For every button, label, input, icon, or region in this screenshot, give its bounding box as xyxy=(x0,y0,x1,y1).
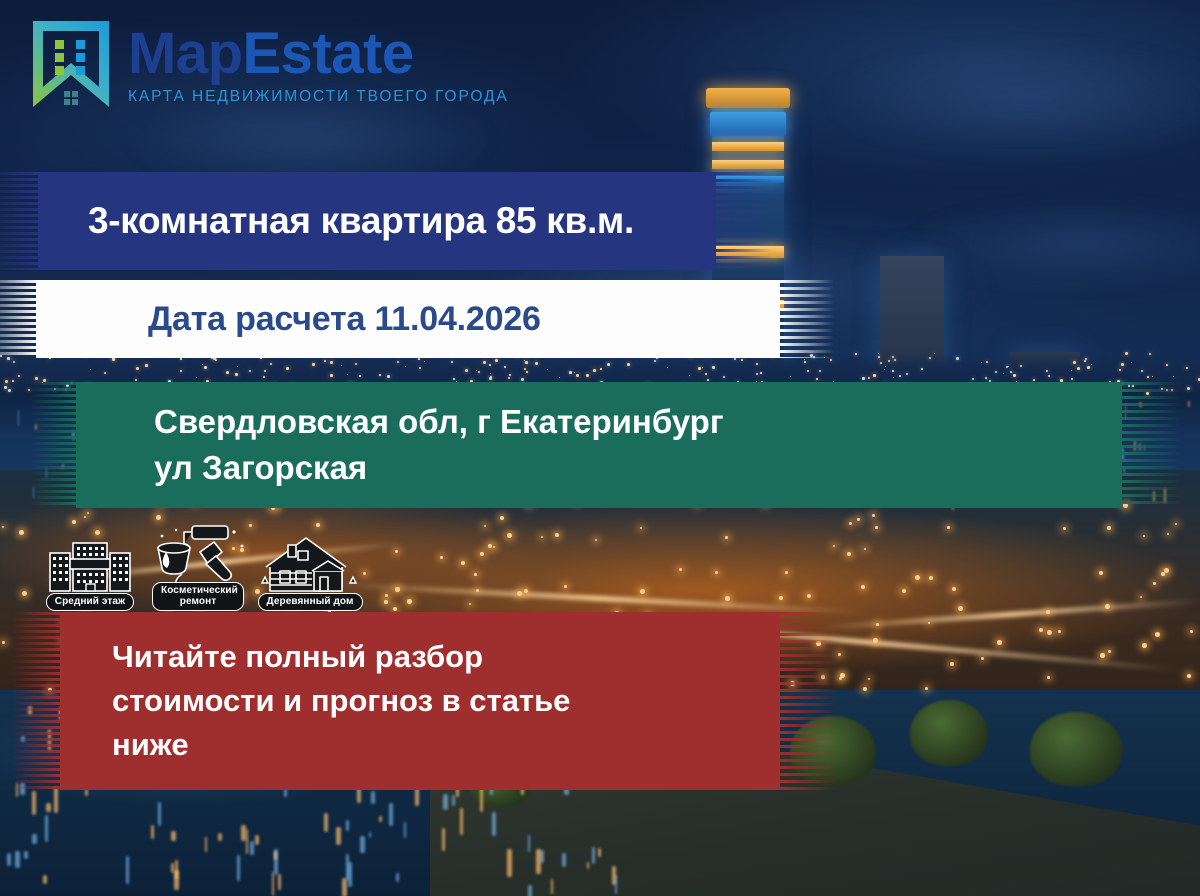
page-title: 3-комнатная квартира 85 кв.м. xyxy=(38,200,634,242)
brand-logo[interactable]: MapEstate КАРТА НЕДВИЖИМОСТИ ТВОЕГО ГОРО… xyxy=(28,18,509,110)
cta-line-1: Читайте полный разбор xyxy=(60,635,483,679)
address-band: Свердловская обл, г Екатеринбург ул Заго… xyxy=(76,382,1122,508)
address-line-street: ул Загорская xyxy=(76,445,367,491)
poster-root: MapEstate КАРТА НЕДВИЖИМОСТИ ТВОЕГО ГОРО… xyxy=(0,0,1200,896)
call-to-action-band: Читайте полный разбор стоимости и прогно… xyxy=(60,612,780,790)
brand-name: MapEstate xyxy=(128,26,509,82)
calculation-date-text: Дата расчета 11.04.2026 xyxy=(36,300,541,339)
apartment-building-icon xyxy=(40,537,140,599)
badge-middle-floor[interactable]: Средний этаж xyxy=(40,537,140,612)
brush-edge-left xyxy=(0,172,40,270)
calculation-date-band: Дата расчета 11.04.2026 xyxy=(36,280,780,358)
brush-edge-right xyxy=(1120,382,1182,508)
brand-tagline: КАРТА НЕДВИЖИМОСТИ ТВОЕГО ГОРОДА xyxy=(128,88,509,106)
address-line-region: Свердловская обл, г Екатеринбург xyxy=(76,399,724,445)
badge-wooden-house[interactable]: Деревянный дом xyxy=(256,533,364,612)
feature-badges: Средний этаж xyxy=(40,522,364,611)
brush-edge-left xyxy=(30,382,78,508)
badge-cosmetic-renovation[interactable]: Косметический ремонт xyxy=(146,522,250,611)
brush-edge-right xyxy=(778,612,838,790)
badge-label: Средний этаж xyxy=(46,593,135,612)
brand-logo-text: MapEstate КАРТА НЕДВИЖИМОСТИ ТВОЕГО ГОРО… xyxy=(128,18,509,106)
wooden-house-icon xyxy=(256,533,364,599)
property-title-band: 3-комнатная квартира 85 кв.м. xyxy=(38,172,716,270)
cta-line-2: стоимости и прогноз в статье xyxy=(60,679,570,723)
cta-line-3: ниже xyxy=(60,723,189,767)
brush-edge-left xyxy=(0,280,38,358)
badge-label: Деревянный дом xyxy=(258,593,363,612)
badge-label: Косметический ремонт xyxy=(152,582,244,611)
paint-roller-bucket-brush-icon xyxy=(146,522,250,588)
brush-edge-left xyxy=(12,612,62,790)
bookmark-building-logo-icon xyxy=(28,18,114,110)
brush-edge-right xyxy=(778,280,834,358)
brand-name-part1: Map xyxy=(128,21,243,86)
brush-edge-right xyxy=(714,172,772,270)
brand-name-part2: Estate xyxy=(243,21,414,86)
